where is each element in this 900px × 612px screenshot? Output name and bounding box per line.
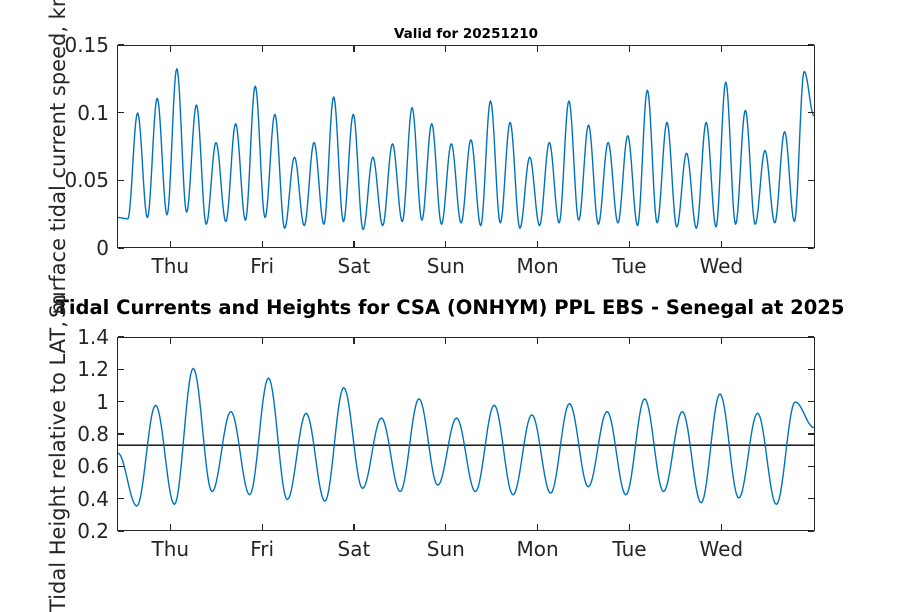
x-tick-mark bbox=[629, 46, 630, 52]
x-tick-label-tue: Tue bbox=[612, 254, 646, 278]
bottom-plot-area bbox=[117, 337, 815, 531]
top-panel-title: Valid for 20251210 bbox=[117, 26, 815, 42]
y-tick-label: 0.2 bbox=[11, 519, 109, 543]
x-tick-label-thu: Thu bbox=[151, 254, 189, 278]
x-tick-mark bbox=[170, 524, 171, 530]
x-tick-mark bbox=[445, 46, 446, 52]
x-tick-mark bbox=[262, 241, 263, 247]
y-tick-label: 0.05 bbox=[11, 168, 109, 192]
y-tick-label: 0.15 bbox=[11, 33, 109, 57]
y-tick-mark bbox=[118, 530, 124, 531]
x-tick-mark bbox=[445, 338, 446, 344]
y-tick-mark bbox=[118, 44, 124, 45]
figure-canvas: Tidal Currents and Heights for CSA (ONHY… bbox=[0, 0, 900, 600]
x-tick-mark bbox=[721, 46, 722, 52]
figure-super-title-text: Tidal Currents and Heights for CSA (ONHY… bbox=[56, 296, 845, 319]
x-tick-label-sat: Sat bbox=[338, 254, 371, 278]
y-tick-mark bbox=[118, 433, 124, 434]
y-tick-mark bbox=[118, 336, 124, 337]
x-tick-mark bbox=[721, 524, 722, 530]
x-tick-label-mon: Mon bbox=[517, 537, 559, 561]
x-tick-mark bbox=[629, 524, 630, 530]
x-tick-label-wed: Wed bbox=[700, 537, 744, 561]
y-tick-mark bbox=[118, 369, 124, 370]
x-tick-mark bbox=[537, 338, 538, 344]
y-tick-mark bbox=[808, 180, 814, 181]
x-tick-label-sat: Sat bbox=[338, 537, 371, 561]
y-tick-mark bbox=[808, 247, 814, 248]
x-tick-mark bbox=[629, 338, 630, 344]
x-tick-mark bbox=[170, 241, 171, 247]
x-tick-label-thu: Thu bbox=[151, 537, 189, 561]
x-tick-mark bbox=[353, 338, 354, 344]
x-tick-mark bbox=[629, 241, 630, 247]
y-tick-mark bbox=[118, 112, 124, 113]
top-series-plot bbox=[118, 46, 814, 247]
x-tick-mark bbox=[170, 46, 171, 52]
y-tick-label: 0 bbox=[11, 236, 109, 260]
x-tick-mark bbox=[262, 46, 263, 52]
bottom-series-plot bbox=[118, 338, 814, 530]
x-tick-mark bbox=[721, 241, 722, 247]
x-tick-mark bbox=[262, 524, 263, 530]
y-tick-mark bbox=[808, 530, 814, 531]
y-tick-mark bbox=[808, 44, 814, 45]
top-plot-area bbox=[117, 45, 815, 248]
x-tick-mark bbox=[353, 46, 354, 52]
x-tick-label-tue: Tue bbox=[612, 537, 646, 561]
x-tick-mark bbox=[262, 338, 263, 344]
x-tick-mark bbox=[445, 241, 446, 247]
y-tick-label: 0.8 bbox=[11, 422, 109, 446]
x-tick-mark bbox=[353, 524, 354, 530]
y-tick-mark bbox=[118, 180, 124, 181]
y-tick-label: 0.4 bbox=[11, 487, 109, 511]
x-tick-mark bbox=[537, 46, 538, 52]
x-tick-mark bbox=[353, 241, 354, 247]
y-tick-label: 0.6 bbox=[11, 454, 109, 478]
x-tick-label-sun: Sun bbox=[427, 254, 465, 278]
x-tick-label-fri: Fri bbox=[250, 254, 274, 278]
y-tick-mark bbox=[808, 369, 814, 370]
y-tick-mark bbox=[808, 336, 814, 337]
figure-super-title: Tidal Currents and Heights for CSA (ONHY… bbox=[0, 296, 900, 319]
series-line bbox=[118, 368, 814, 506]
y-tick-mark bbox=[808, 112, 814, 113]
x-tick-label-mon: Mon bbox=[517, 254, 559, 278]
y-tick-label: 1.4 bbox=[11, 325, 109, 349]
y-tick-mark bbox=[118, 247, 124, 248]
x-tick-label-wed: Wed bbox=[700, 254, 744, 278]
y-tick-label: 1.2 bbox=[11, 357, 109, 381]
x-tick-label-sun: Sun bbox=[427, 537, 465, 561]
y-tick-mark bbox=[808, 466, 814, 467]
y-tick-mark bbox=[118, 498, 124, 499]
x-tick-mark bbox=[721, 338, 722, 344]
x-tick-mark bbox=[170, 338, 171, 344]
y-tick-label: 0.1 bbox=[11, 101, 109, 125]
y-tick-mark bbox=[118, 401, 124, 402]
y-tick-mark bbox=[808, 433, 814, 434]
x-tick-mark bbox=[537, 241, 538, 247]
y-tick-mark bbox=[808, 401, 814, 402]
x-tick-mark bbox=[445, 524, 446, 530]
y-tick-label: 1 bbox=[11, 390, 109, 414]
x-tick-label-fri: Fri bbox=[250, 537, 274, 561]
series-line bbox=[118, 69, 814, 230]
y-tick-mark bbox=[118, 466, 124, 467]
y-tick-mark bbox=[808, 498, 814, 499]
x-tick-mark bbox=[537, 524, 538, 530]
